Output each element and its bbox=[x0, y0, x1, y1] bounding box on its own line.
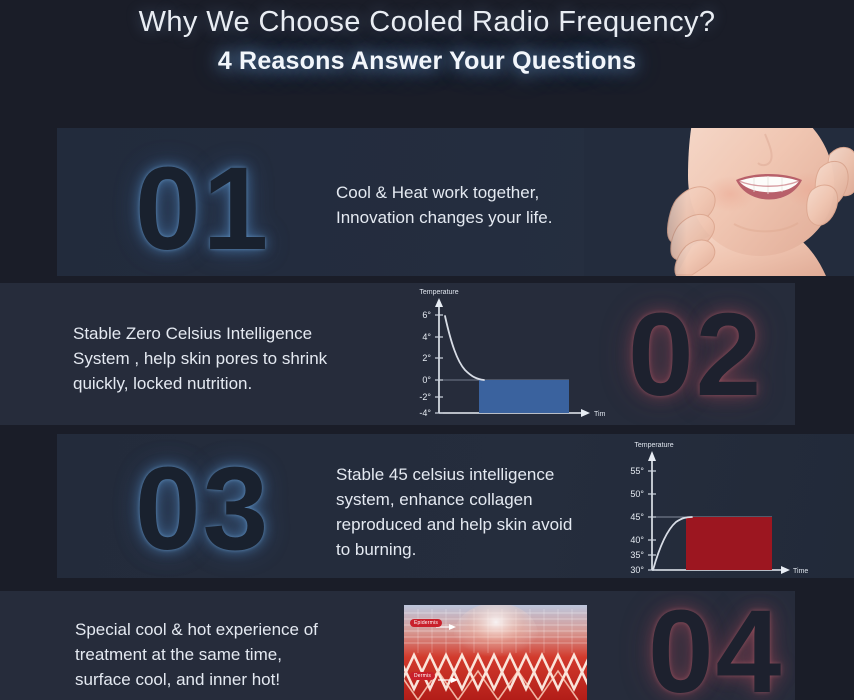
card-text-02: Stable Zero Celsius Intelligence System … bbox=[73, 321, 327, 396]
ytick-label: -2° bbox=[419, 392, 431, 402]
ytick-label: 0° bbox=[422, 375, 431, 385]
reason-card-04: Special cool & hot experience of treatme… bbox=[0, 591, 795, 700]
card-number-03: 03 bbox=[135, 450, 270, 568]
ytick-label: 40° bbox=[630, 535, 644, 545]
woman-face-photo bbox=[584, 128, 854, 276]
card-text-04: Special cool & hot experience of treatme… bbox=[75, 617, 318, 692]
dermis-label: Dermis bbox=[410, 672, 435, 680]
x-axis-label: Time bbox=[793, 568, 808, 575]
page-title: Why We Choose Cooled Radio Frequency? bbox=[0, 0, 854, 39]
cooling-temperature-chart: 6° 4° 2° 0° -2° -4° Temperature Time bbox=[405, 285, 605, 420]
ytick-label: 2° bbox=[422, 353, 431, 363]
page-header: Why We Choose Cooled Radio Frequency? 4 … bbox=[0, 0, 854, 110]
card-text-03: Stable 45 celsius intelligence system, e… bbox=[336, 462, 572, 562]
card-text-01: Cool & Heat work together, Innovation ch… bbox=[336, 180, 552, 230]
y-axis-label: Temperature bbox=[634, 442, 673, 449]
infographic-page: Why We Choose Cooled Radio Frequency? 4 … bbox=[0, 0, 854, 700]
reason-card-02: Stable Zero Celsius Intelligence System … bbox=[0, 283, 795, 425]
ytick-label: 55° bbox=[630, 466, 644, 476]
y-axis-label: Temperature bbox=[419, 289, 458, 296]
ytick-label: 6° bbox=[422, 310, 431, 320]
heating-temperature-chart: 55° 50° 45° 40° 35° 30° Temperature Time bbox=[610, 437, 815, 577]
epidermis-label: Epidermis bbox=[410, 619, 442, 627]
card-number-04: 04 bbox=[648, 593, 783, 700]
reason-card-01: 01 Cool & Heat work together, Innovation… bbox=[57, 128, 854, 276]
ytick-label: 50° bbox=[630, 489, 644, 499]
ytick-label: 4° bbox=[422, 332, 431, 342]
x-axis-label: Time bbox=[594, 411, 605, 418]
ytick-label: 30° bbox=[630, 565, 644, 575]
ytick-label: 35° bbox=[630, 550, 644, 560]
page-subtitle: 4 Reasons Answer Your Questions bbox=[0, 39, 854, 76]
card-number-01: 01 bbox=[135, 150, 270, 268]
card-number-02: 02 bbox=[628, 296, 763, 414]
skin-layers-image: Epidermis Dermis bbox=[404, 605, 587, 700]
ytick-label: 45° bbox=[630, 512, 644, 522]
ytick-label: -4° bbox=[419, 408, 431, 418]
